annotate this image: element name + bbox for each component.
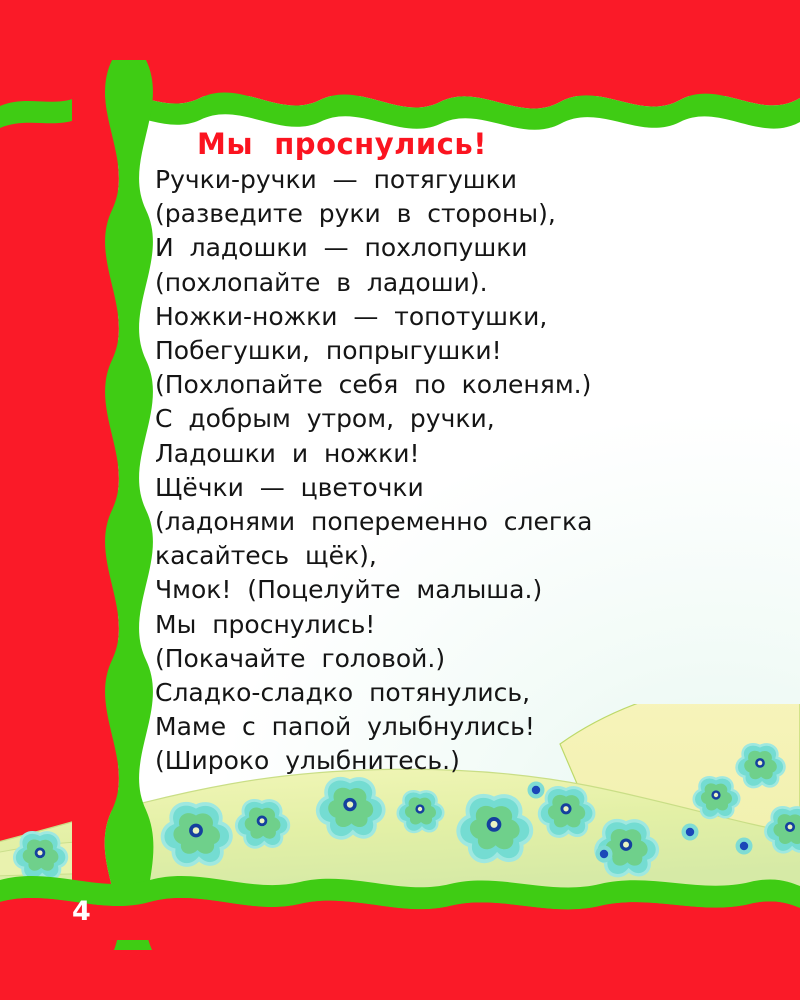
- poem-line: И ладошки — похлопушки: [155, 231, 715, 265]
- poem-line: (ладонями попеременно слегка: [155, 505, 715, 539]
- poem-line: (похлопайте в ладоши).: [155, 266, 715, 300]
- page-number: 4: [72, 898, 91, 925]
- poem-line: Ладошки и ножки!: [155, 437, 715, 471]
- poem-line: Побегушки, попрыгушки!: [155, 334, 715, 368]
- poem-line: (разведите руки в стороны),: [155, 197, 715, 231]
- poem-line: Маме с папой улыбнулись!: [155, 710, 715, 744]
- poem-line: Щёчки — цветочки: [155, 471, 715, 505]
- poem-line: Чмок! (Поцелуйте малыша.): [155, 573, 715, 607]
- poem-line: (Широко улыбнитесь.): [155, 744, 715, 778]
- poem-line: Ручки-ручки — потягушки: [155, 163, 715, 197]
- poem-line: (Похлопайте себя по коленям.): [155, 368, 715, 402]
- poem-line: Сладко-сладко потянулись,: [155, 676, 715, 710]
- poem-block: Мы проснулись! Ручки-ручки — потягушки (…: [155, 127, 715, 779]
- poem-line: С добрым утром, ручки,: [155, 402, 715, 436]
- poem-line: Ножки-ножки — топотушки,: [155, 300, 715, 334]
- poem-line: Мы проснулись!: [155, 608, 715, 642]
- poem-line: (Покачайте головой.): [155, 642, 715, 676]
- book-page: Мы проснулись! Ручки-ручки — потягушки (…: [0, 0, 800, 1000]
- poem-title: Мы проснулись!: [197, 127, 715, 161]
- poem-line: касайтесь щёк),: [155, 539, 715, 573]
